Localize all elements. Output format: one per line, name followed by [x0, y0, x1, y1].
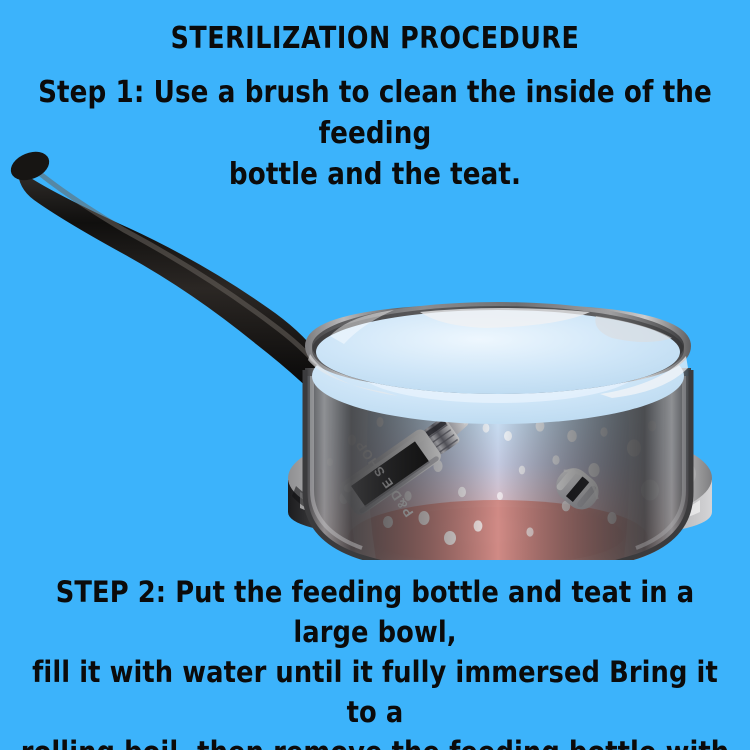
pot-handle: [7, 146, 348, 398]
illustration-saucepan-on-stove: P&D E SHOP: [0, 140, 750, 560]
step-2-line-2: fill it with water until it fully immers…: [19, 652, 731, 732]
step-2-instructions: STEP 2: Put the feeding bottle and teat …: [11, 572, 739, 750]
saucepan: P&D E SHOP: [300, 302, 696, 560]
step-2-line-1: STEP 2: Put the feeding bottle and teat …: [19, 572, 731, 652]
page-title: STERILIZATION PROCEDURE: [23, 22, 728, 56]
step-2-line-3: rolling boil, then remove the feeding bo…: [19, 732, 731, 750]
poster-canvas: STERILIZATION PROCEDURE Step 1: Use a br…: [0, 0, 750, 750]
